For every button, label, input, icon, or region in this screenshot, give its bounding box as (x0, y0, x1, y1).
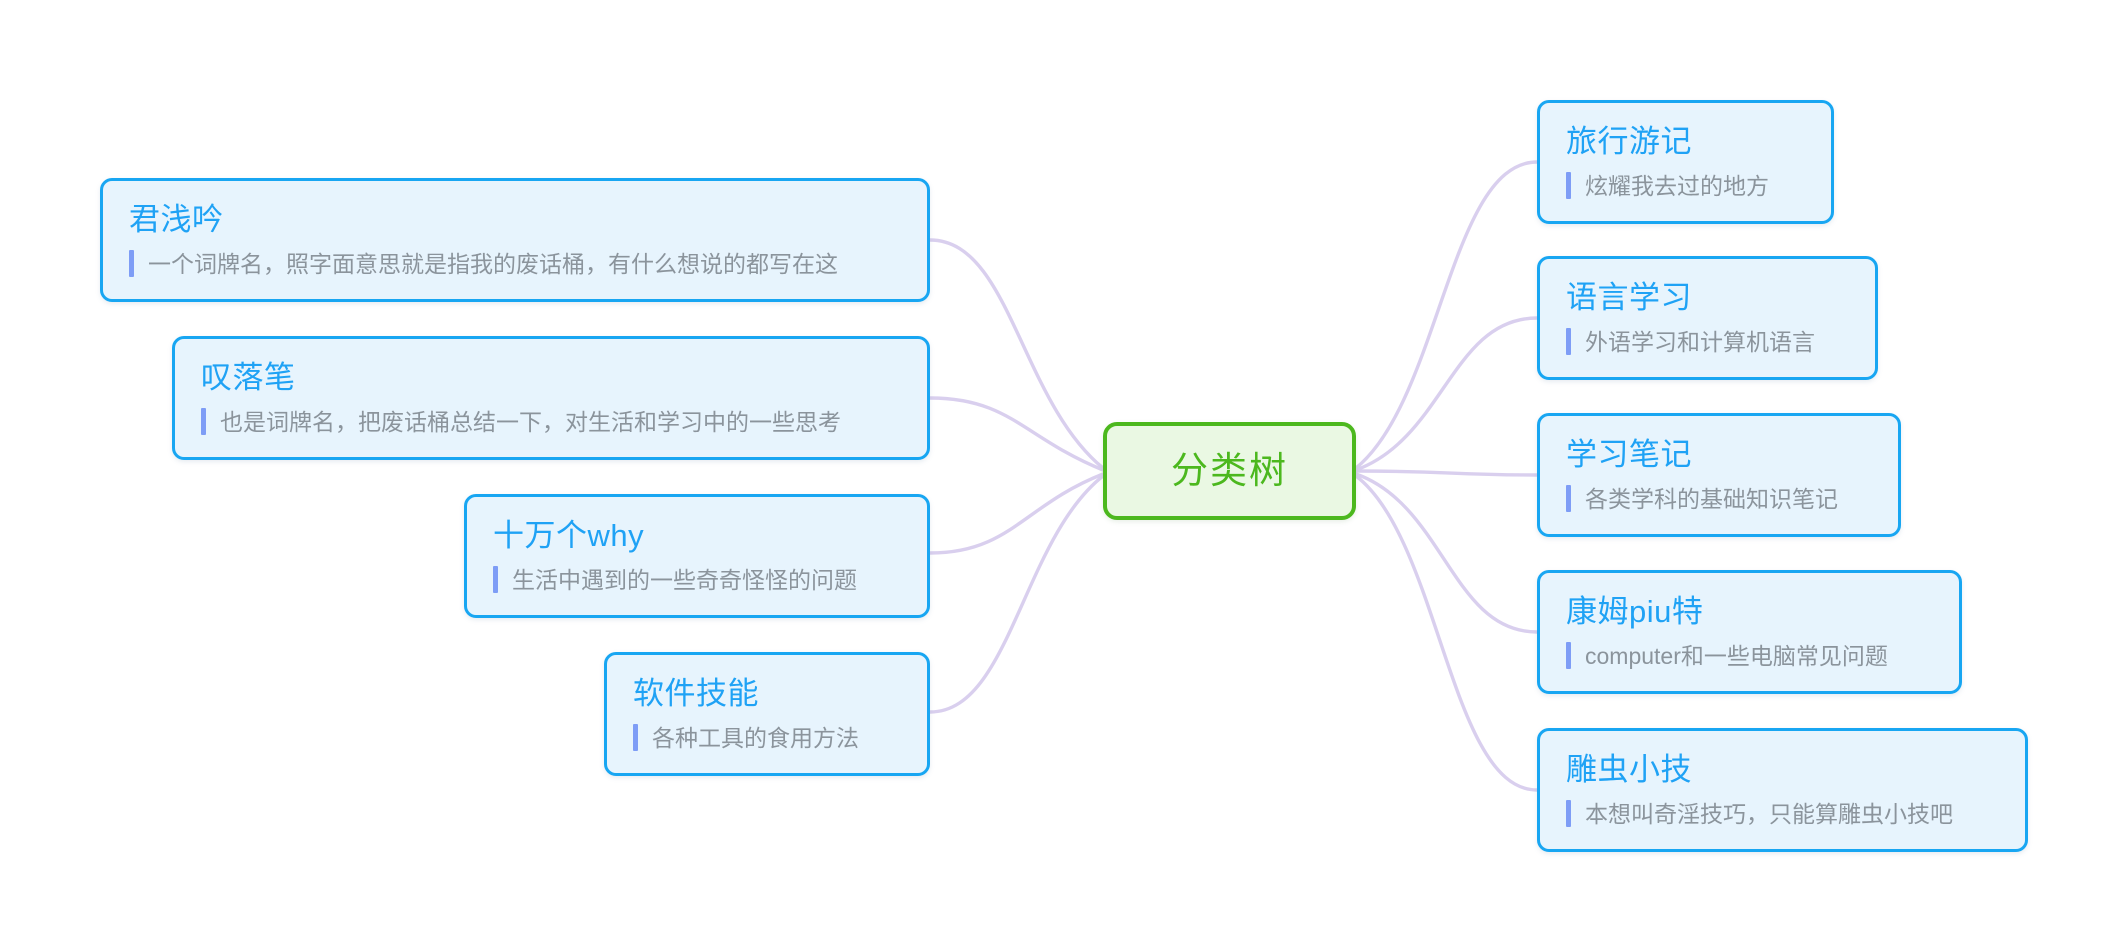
accent-bar-icon (1566, 172, 1571, 199)
node-right-4-desc: computer和一些电脑常见问题 (1585, 641, 1888, 671)
node-right-3[interactable]: 学习笔记 各类学科的基础知识笔记 (1537, 413, 1901, 537)
node-right-5-title: 雕虫小技 (1566, 750, 1999, 790)
connector-right-5 (1356, 476, 1537, 790)
connector-left-3 (930, 474, 1103, 553)
node-left-1-title: 君浅吟 (129, 200, 901, 240)
node-left-4[interactable]: 软件技能 各种工具的食用方法 (604, 652, 930, 776)
node-right-3-title: 学习笔记 (1566, 435, 1872, 475)
node-right-4-desc-row: computer和一些电脑常见问题 (1566, 641, 1933, 671)
connector-right-1 (1356, 162, 1537, 468)
node-left-2-desc-row: 也是词牌名，把废话桶总结一下，对生活和学习中的一些思考 (201, 407, 901, 437)
node-left-4-title: 软件技能 (633, 674, 901, 714)
node-right-2[interactable]: 语言学习 外语学习和计算机语言 (1537, 256, 1878, 380)
node-left-4-desc-row: 各种工具的食用方法 (633, 723, 901, 753)
node-right-5[interactable]: 雕虫小技 本想叫奇淫技巧，只能算雕虫小技吧 (1537, 728, 2028, 852)
connector-right-2 (1356, 318, 1537, 470)
accent-bar-icon (1566, 800, 1571, 827)
accent-bar-icon (201, 408, 206, 435)
node-right-5-desc: 本想叫奇淫技巧，只能算雕虫小技吧 (1585, 799, 1953, 829)
node-right-1-title: 旅行游记 (1566, 122, 1805, 162)
node-left-3[interactable]: 十万个why 生活中遇到的一些奇奇怪怪的问题 (464, 494, 930, 618)
node-right-3-desc-row: 各类学科的基础知识笔记 (1566, 484, 1872, 514)
node-left-2-desc: 也是词牌名，把废话桶总结一下，对生活和学习中的一些思考 (220, 407, 841, 437)
node-right-2-desc-row: 外语学习和计算机语言 (1566, 327, 1849, 357)
accent-bar-icon (1566, 485, 1571, 512)
mindmap-canvas: 君浅吟 一个词牌名，照字面意思就是指我的废话桶，有什么想说的都写在这 叹落笔 也… (0, 0, 2124, 948)
node-left-1-desc-row: 一个词牌名，照字面意思就是指我的废话桶，有什么想说的都写在这 (129, 249, 901, 279)
center-node-label: 分类树 (1171, 449, 1288, 493)
node-left-1[interactable]: 君浅吟 一个词牌名，照字面意思就是指我的废话桶，有什么想说的都写在这 (100, 178, 930, 302)
connector-left-4 (930, 476, 1103, 712)
node-left-2-title: 叹落笔 (201, 358, 901, 398)
accent-bar-icon (129, 250, 134, 277)
accent-bar-icon (633, 724, 638, 751)
node-left-2[interactable]: 叹落笔 也是词牌名，把废话桶总结一下，对生活和学习中的一些思考 (172, 336, 930, 460)
accent-bar-icon (493, 566, 498, 593)
node-left-4-desc: 各种工具的食用方法 (652, 723, 859, 753)
node-right-1-desc: 炫耀我去过的地方 (1585, 171, 1769, 201)
connector-left-2 (930, 398, 1103, 470)
center-node[interactable]: 分类树 (1103, 422, 1356, 520)
accent-bar-icon (1566, 328, 1571, 355)
node-right-5-desc-row: 本想叫奇淫技巧，只能算雕虫小技吧 (1566, 799, 1999, 829)
node-right-2-title: 语言学习 (1566, 278, 1849, 318)
node-left-3-title: 十万个why (493, 516, 901, 556)
connector-right-4 (1356, 474, 1537, 632)
node-right-4-title: 康姆piu特 (1566, 592, 1933, 632)
node-right-4[interactable]: 康姆piu特 computer和一些电脑常见问题 (1537, 570, 1962, 694)
node-right-3-desc: 各类学科的基础知识笔记 (1585, 484, 1838, 514)
connector-left-1 (930, 240, 1103, 468)
connector-right-3 (1356, 471, 1537, 475)
node-left-3-desc-row: 生活中遇到的一些奇奇怪怪的问题 (493, 565, 901, 595)
accent-bar-icon (1566, 642, 1571, 669)
node-right-2-desc: 外语学习和计算机语言 (1585, 327, 1815, 357)
node-left-3-desc: 生活中遇到的一些奇奇怪怪的问题 (512, 565, 857, 595)
node-right-1-desc-row: 炫耀我去过的地方 (1566, 171, 1805, 201)
node-left-1-desc: 一个词牌名，照字面意思就是指我的废话桶，有什么想说的都写在这 (148, 249, 838, 279)
node-right-1[interactable]: 旅行游记 炫耀我去过的地方 (1537, 100, 1834, 224)
